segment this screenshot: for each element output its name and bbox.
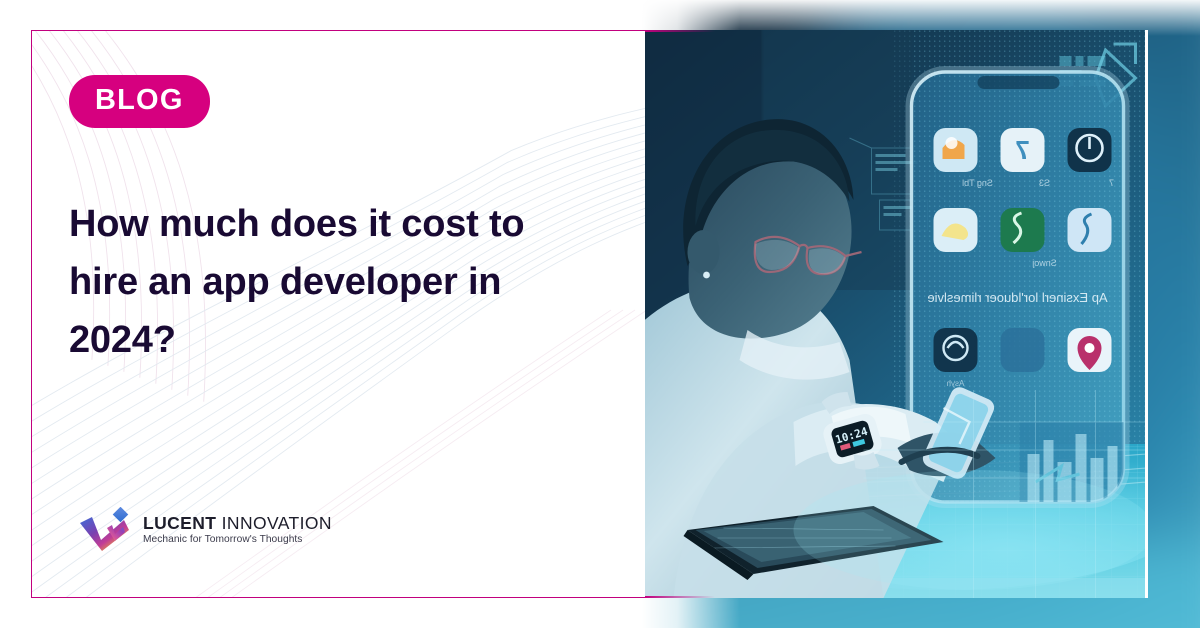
blog-badge: BLOG — [69, 75, 210, 128]
hero-photo: 7 Sng Tbl S3 7 — [645, 30, 1145, 598]
page-title: How much does it cost to hire an app dev… — [69, 196, 589, 369]
hero-photo-frame: 7 Sng Tbl S3 7 — [645, 30, 1148, 598]
svg-text:Ap Exsinerl lor'lduoer rlimesl: Ap Exsinerl lor'lduoer rlimeslvie — [927, 290, 1107, 305]
logo-name-bold: LUCENT — [143, 513, 216, 533]
svg-text:Snwoj: Snwoj — [1032, 258, 1057, 268]
frame-rule-top — [645, 30, 715, 32]
content-card: BLOG How much does it cost to hire an ap… — [31, 30, 645, 598]
svg-text:7: 7 — [1109, 178, 1114, 188]
frame-rule-bottom — [645, 596, 715, 598]
svg-text:S3: S3 — [1039, 178, 1050, 188]
logo-name-light: INNOVATION — [222, 513, 332, 533]
svg-text:Asyh: Asyh — [947, 379, 965, 388]
svg-text:Sng Tbl: Sng Tbl — [962, 178, 993, 188]
brand-logo[interactable]: LUCENT INNOVATION Mechanic for Tomorrow'… — [79, 507, 332, 553]
lucent-checkmark-icon — [79, 507, 131, 553]
logo-wordmark: LUCENT INNOVATION — [143, 515, 332, 533]
svg-text:7: 7 — [1015, 135, 1029, 165]
logo-tagline: Mechanic for Tomorrow's Thoughts — [143, 534, 332, 545]
